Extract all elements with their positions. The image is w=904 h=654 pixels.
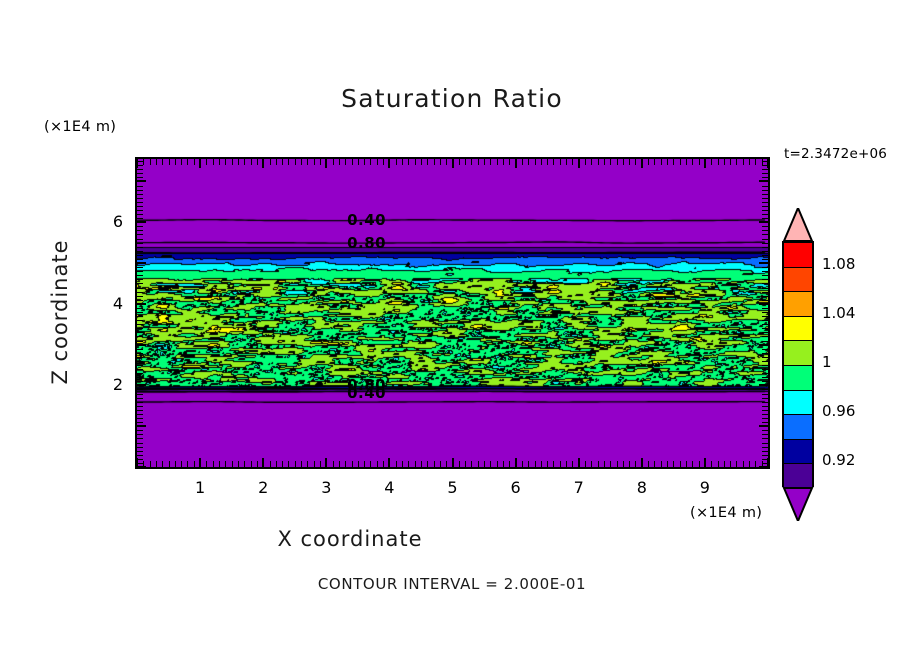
- y-axis-tick: [137, 255, 143, 256]
- contour-label: 0.40: [347, 211, 386, 229]
- x-axis-tick-top: [333, 159, 334, 165]
- x-axis-tick-top: [325, 159, 327, 168]
- y-axis-tick: [137, 234, 143, 235]
- x-axis-tick-top: [156, 159, 157, 165]
- y-axis-tick-right: [762, 283, 768, 284]
- x-axis-tick: [566, 461, 567, 467]
- x-axis-tick-top: [199, 159, 201, 168]
- x-axis-tick: [446, 461, 447, 467]
- x-axis-tick: [199, 458, 201, 467]
- y-axis-tick: [137, 344, 146, 346]
- x-axis-tick: [515, 458, 517, 467]
- y-axis-tick: [137, 459, 143, 460]
- contour-label: 0.40: [347, 384, 386, 402]
- x-axis-tick-top: [339, 159, 340, 165]
- x-axis-tick-top: [288, 159, 289, 165]
- y-axis-tick: [137, 186, 143, 187]
- x-tick-label: 5: [433, 478, 473, 497]
- x-axis-tick: [572, 461, 573, 467]
- x-axis-tick-top: [560, 159, 561, 165]
- x-axis-tick: [686, 461, 687, 467]
- x-axis-tick-top: [282, 159, 283, 165]
- x-axis-tick: [225, 461, 226, 467]
- y-axis-tick-right: [762, 251, 768, 252]
- x-axis-tick: [528, 461, 529, 467]
- x-axis-tick: [370, 461, 371, 467]
- x-axis-tick-top: [276, 159, 277, 165]
- x-axis-title: X coordinate: [0, 527, 700, 551]
- x-axis-tick: [730, 461, 731, 467]
- y-axis-tick-right: [762, 349, 768, 350]
- colorbar-band[interactable]: [784, 317, 812, 342]
- x-axis-tick-top: [383, 159, 384, 165]
- y-axis-tick: [137, 336, 143, 337]
- y-axis-tick: [137, 283, 143, 284]
- x-axis-tick: [282, 461, 283, 467]
- x-axis-tick-top: [238, 159, 239, 165]
- x-axis-tick: [673, 461, 674, 467]
- colorbar-band[interactable]: [784, 366, 812, 391]
- y-axis-tick: [137, 349, 143, 350]
- x-axis-tick: [680, 461, 681, 467]
- y-axis-tick: [137, 353, 143, 354]
- saturation-field-canvas: [137, 159, 768, 467]
- x-tick-label: 2: [243, 478, 283, 497]
- x-axis-tick-top: [535, 159, 536, 165]
- x-axis-tick-top: [711, 159, 712, 165]
- y-axis-tick-right: [762, 394, 768, 395]
- y-axis-tick: [137, 292, 143, 293]
- x-axis-tick-top: [591, 159, 592, 165]
- y-axis-tick-right: [759, 180, 768, 182]
- x-axis-tick: [560, 461, 561, 467]
- x-tick-label: 9: [685, 478, 725, 497]
- colorbar-band[interactable]: [784, 243, 812, 268]
- x-axis-tick-top: [396, 159, 397, 165]
- y-axis-tick-right: [759, 221, 768, 223]
- y-axis-tick: [137, 443, 143, 444]
- y-axis-tick: [137, 341, 143, 342]
- y-axis-tick: [137, 288, 143, 289]
- x-axis-tick-top: [143, 159, 144, 165]
- y-axis-tick-right: [762, 288, 768, 289]
- x-axis-tick-top: [465, 159, 466, 165]
- x-axis-tick: [408, 461, 409, 467]
- x-axis-tick: [219, 461, 220, 467]
- y-axis-tick: [137, 447, 143, 448]
- y-axis-tick: [137, 361, 143, 362]
- x-axis-tick-top: [724, 159, 725, 165]
- x-axis-tick: [497, 461, 498, 467]
- y-axis-tick: [137, 328, 143, 329]
- page-title: Saturation Ratio: [0, 84, 904, 113]
- y-axis-tick-right: [762, 312, 768, 313]
- x-axis-tick-top: [370, 159, 371, 165]
- x-axis-tick-top: [415, 159, 416, 165]
- y-axis-tick: [137, 418, 143, 419]
- colorbar-bands[interactable]: [782, 241, 814, 487]
- x-axis-tick: [270, 461, 271, 467]
- y-axis-tick: [137, 161, 143, 162]
- x-axis-tick: [553, 461, 554, 467]
- x-axis-tick: [383, 461, 384, 467]
- x-axis-tick-top: [528, 159, 529, 165]
- y-axis-tick-right: [762, 226, 768, 227]
- x-axis-tick: [617, 461, 618, 467]
- y-axis-tick-right: [762, 402, 768, 403]
- y-axis-tick: [137, 271, 143, 272]
- y-axis-tick-right: [762, 459, 768, 460]
- x-axis-tick-top: [743, 159, 744, 165]
- y-axis-tick-right: [759, 262, 768, 264]
- x-axis-tick-top: [755, 159, 756, 165]
- x-axis-tick-top: [345, 159, 346, 165]
- y-axis-tick: [137, 365, 143, 366]
- y-axis-tick-right: [762, 328, 768, 329]
- x-axis-tick-top: [641, 159, 643, 168]
- x-axis-tick: [251, 461, 252, 467]
- x-axis-tick: [692, 461, 693, 467]
- x-axis-tick: [415, 461, 416, 467]
- y-axis-tick: [137, 218, 143, 219]
- x-axis-tick: [402, 461, 403, 467]
- y-axis-tick-right: [762, 369, 768, 370]
- y-axis-tick-right: [762, 234, 768, 235]
- x-axis-tick-top: [667, 159, 668, 165]
- contour-plot-area[interactable]: 0.400.800.800.40: [135, 157, 770, 469]
- colorbar-band[interactable]: [784, 268, 812, 293]
- x-axis-tick-top: [408, 159, 409, 165]
- y-axis-tick-right: [762, 430, 768, 431]
- y-axis-tick-right: [762, 422, 768, 423]
- x-axis-tick-top: [440, 159, 441, 165]
- contour-label: 0.80: [347, 234, 386, 252]
- y-axis-tick: [137, 324, 143, 325]
- y-axis-tick-right: [762, 186, 768, 187]
- x-axis-tick: [490, 461, 491, 467]
- x-axis-tick-top: [585, 159, 586, 165]
- y-axis-tick-right: [762, 447, 768, 448]
- x-axis-tick-top: [610, 159, 611, 165]
- y-axis-tick: [137, 230, 143, 231]
- y-axis-tick: [137, 394, 143, 395]
- x-axis-tick: [648, 461, 649, 467]
- y-axis-tick-right: [762, 300, 768, 301]
- x-axis-tick-top: [150, 159, 151, 165]
- x-axis-tick: [440, 461, 441, 467]
- x-axis-tick-top: [522, 159, 523, 165]
- x-axis-tick: [377, 461, 378, 467]
- y-axis-tick-right: [762, 377, 768, 378]
- x-axis-tick-top: [648, 159, 649, 165]
- x-axis-tick: [604, 461, 605, 467]
- x-axis-tick-top: [484, 159, 485, 165]
- x-axis-tick: [396, 461, 397, 467]
- x-axis-tick-top: [509, 159, 510, 165]
- y-axis-tick: [137, 430, 143, 431]
- y-axis-tick-right: [762, 398, 768, 399]
- colorbar-band[interactable]: [784, 341, 812, 366]
- y-tick-label: 4: [95, 294, 123, 313]
- colorbar-band[interactable]: [784, 415, 812, 440]
- x-axis-tick: [535, 461, 536, 467]
- x-axis-tick: [162, 461, 163, 467]
- x-axis-tick-top: [358, 159, 359, 165]
- x-axis-tick-top: [169, 159, 170, 165]
- x-axis-tick: [503, 461, 504, 467]
- x-axis-tick: [325, 458, 327, 467]
- x-axis-tick: [711, 461, 712, 467]
- x-axis-tick-top: [162, 159, 163, 165]
- x-axis-tick-top: [257, 159, 258, 165]
- x-axis-tick: [295, 461, 296, 467]
- x-axis-tick-top: [604, 159, 605, 165]
- y-axis-tick: [137, 406, 143, 407]
- y-axis-tick-right: [762, 365, 768, 366]
- x-axis-tick: [169, 461, 170, 467]
- x-tick-label: 8: [622, 478, 662, 497]
- y-axis-tick: [137, 279, 143, 280]
- x-axis-tick-top: [730, 159, 731, 165]
- x-axis-tick-top: [547, 159, 548, 165]
- x-axis-tick: [661, 461, 662, 467]
- y-axis-tick-right: [762, 443, 768, 444]
- y-axis-tick-right: [759, 303, 768, 305]
- x-axis-tick-top: [503, 159, 504, 165]
- x-axis-tick-top: [314, 159, 315, 165]
- y-axis-tick: [137, 434, 143, 435]
- y-axis-tick-right: [762, 353, 768, 354]
- x-axis-tick-top: [181, 159, 182, 165]
- colorbar-tick-label: 0.92: [822, 451, 855, 469]
- y-axis-tick: [137, 438, 143, 439]
- y-axis-tick: [137, 332, 143, 333]
- y-axis-tick: [137, 173, 143, 174]
- y-axis-tick: [137, 267, 143, 268]
- x-axis-tick-top: [377, 159, 378, 165]
- y-axis-tick: [137, 312, 143, 313]
- y-axis-tick-right: [762, 455, 768, 456]
- x-axis-tick-top: [251, 159, 252, 165]
- y-tick-label: 6: [95, 212, 123, 231]
- x-axis-tick-top: [459, 159, 460, 165]
- x-axis-tick-top: [213, 159, 214, 165]
- x-axis-tick-top: [434, 159, 435, 165]
- time-annotation: t=2.3472e+06: [784, 146, 887, 162]
- y-axis-tick: [137, 402, 143, 403]
- x-axis-tick: [591, 461, 592, 467]
- y-axis-tick: [137, 198, 143, 199]
- y-axis-tick: [137, 251, 143, 252]
- y-axis-tick-right: [762, 341, 768, 342]
- x-tick-label: 6: [496, 478, 536, 497]
- x-axis-tick-top: [187, 159, 188, 165]
- x-axis-tick: [478, 461, 479, 467]
- x-axis-tick: [206, 461, 207, 467]
- colorbar-tick-label: 1.04: [822, 304, 855, 322]
- x-tick-label: 4: [369, 478, 409, 497]
- y-axis-tick: [137, 455, 143, 456]
- colorbar-tick-label: 1.08: [822, 255, 855, 273]
- y-axis-tick: [137, 169, 143, 170]
- x-axis-tick: [175, 461, 176, 467]
- y-axis-tick-right: [762, 267, 768, 268]
- x-axis-tick-top: [699, 159, 700, 165]
- y-axis-tick: [137, 425, 146, 427]
- y-axis-tick: [137, 180, 146, 182]
- x-axis-tick: [345, 461, 346, 467]
- x-axis-tick: [522, 461, 523, 467]
- colorbar-band[interactable]: [784, 292, 812, 317]
- y-axis-tick: [137, 239, 143, 240]
- x-axis-tick-top: [673, 159, 674, 165]
- x-axis-tick: [749, 461, 750, 467]
- y-axis-tick-right: [762, 381, 768, 382]
- y-axis-tick: [137, 206, 143, 207]
- y-axis-tick-right: [762, 414, 768, 415]
- x-axis-tick: [213, 461, 214, 467]
- y-axis-tick: [137, 316, 143, 317]
- x-axis-tick-top: [232, 159, 233, 165]
- x-axis-tick-top: [320, 159, 321, 165]
- x-axis-tick: [578, 458, 580, 467]
- x-axis-tick-top: [427, 159, 428, 165]
- x-axis-tick-top: [578, 159, 580, 168]
- x-axis-tick: [471, 461, 472, 467]
- y-axis-tick: [137, 398, 143, 399]
- y-axis-tick: [137, 214, 143, 215]
- y-axis-tick: [137, 226, 143, 227]
- y-axis-tick-right: [762, 332, 768, 333]
- x-axis-tick-top: [364, 159, 365, 165]
- x-axis-tick-top: [617, 159, 618, 165]
- y-axis-tick-right: [762, 336, 768, 337]
- y-axis-tick-right: [762, 161, 768, 162]
- y-axis-tick-right: [762, 292, 768, 293]
- y-axis-tick: [137, 373, 143, 374]
- x-axis-tick: [699, 461, 700, 467]
- y-axis-tick: [137, 296, 143, 297]
- y-axis-tick-right: [762, 320, 768, 321]
- y-axis-tick-right: [762, 279, 768, 280]
- x-axis-tick: [736, 461, 737, 467]
- x-axis-tick-top: [402, 159, 403, 165]
- y-axis-tick: [137, 422, 143, 423]
- x-axis-tick: [307, 461, 308, 467]
- x-axis-tick-top: [301, 159, 302, 165]
- y-axis-tick-right: [762, 434, 768, 435]
- x-axis-tick-top: [661, 159, 662, 165]
- x-axis-tick-top: [680, 159, 681, 165]
- x-axis-tick-top: [270, 159, 271, 165]
- y-tick-label: 2: [95, 375, 123, 394]
- x-axis-tick-top: [635, 159, 636, 165]
- y-axis-tick-right: [762, 173, 768, 174]
- x-axis-tick-top: [421, 159, 422, 165]
- x-axis-tick: [623, 461, 624, 467]
- colorbar[interactable]: 1.081.0410.960.92: [782, 208, 814, 520]
- y-axis-tick: [137, 243, 143, 244]
- colorbar-band[interactable]: [784, 391, 812, 416]
- x-axis-tick: [598, 461, 599, 467]
- x-axis-tick-top: [478, 159, 479, 165]
- x-axis-tick: [484, 461, 485, 467]
- y-axis-tick-right: [762, 389, 768, 390]
- x-axis-tick-top: [598, 159, 599, 165]
- x-axis-tick-top: [736, 159, 737, 165]
- y-axis-tick-right: [762, 190, 768, 191]
- x-axis-tick: [262, 458, 264, 467]
- y-axis-tick-right: [762, 296, 768, 297]
- x-axis-tick-top: [225, 159, 226, 165]
- x-axis-tick: [667, 461, 668, 467]
- x-axis-tick: [257, 461, 258, 467]
- x-axis-tick-top: [219, 159, 220, 165]
- y-axis-tick-right: [762, 259, 768, 260]
- y-axis-tick: [137, 300, 143, 301]
- x-axis-tick: [238, 461, 239, 467]
- x-axis-tick: [452, 458, 454, 467]
- y-axis-tick: [137, 410, 143, 411]
- y-axis-tick-right: [762, 202, 768, 203]
- colorbar-tick-label: 1: [822, 353, 832, 371]
- x-axis-tick-top: [572, 159, 573, 165]
- x-axis-tick: [547, 461, 548, 467]
- y-axis-tick-right: [762, 194, 768, 195]
- x-axis-tick: [629, 461, 630, 467]
- x-axis-unit-label: (×1E4 m): [690, 505, 762, 521]
- y-axis-tick-right: [762, 316, 768, 317]
- x-axis-tick: [610, 461, 611, 467]
- x-axis-tick-top: [452, 159, 454, 168]
- y-axis-tick-right: [762, 210, 768, 211]
- colorbar-band[interactable]: [784, 440, 812, 465]
- y-axis-tick-right: [762, 275, 768, 276]
- y-axis-tick-right: [759, 466, 768, 468]
- x-axis-tick-top: [244, 159, 245, 165]
- x-axis-tick: [509, 461, 510, 467]
- y-axis-tick: [137, 221, 146, 223]
- x-axis-tick-top: [352, 159, 353, 165]
- y-axis-tick: [137, 247, 143, 248]
- x-axis-tick-top: [295, 159, 296, 165]
- y-axis-tick: [137, 369, 143, 370]
- y-axis-tick-right: [762, 410, 768, 411]
- x-axis-tick-top: [175, 159, 176, 165]
- x-axis-tick: [421, 461, 422, 467]
- x-axis-tick-top: [262, 159, 264, 168]
- x-axis-tick: [585, 461, 586, 467]
- x-axis-tick: [743, 461, 744, 467]
- x-axis-tick-top: [686, 159, 687, 165]
- colorbar-band[interactable]: [784, 464, 812, 489]
- x-axis-tick: [465, 461, 466, 467]
- x-axis-tick-top: [446, 159, 447, 165]
- x-axis-tick-top: [307, 159, 308, 165]
- y-axis-tick-right: [762, 255, 768, 256]
- y-axis-tick-right: [759, 344, 768, 346]
- y-axis-tick: [137, 210, 143, 211]
- x-axis-tick-top: [490, 159, 491, 165]
- y-axis-tick: [137, 190, 143, 191]
- y-axis-tick-right: [762, 243, 768, 244]
- colorbar-bottom-cap: [782, 487, 814, 521]
- y-axis-tick-right: [759, 384, 768, 386]
- y-axis-tick-right: [762, 239, 768, 240]
- y-axis-tick: [137, 259, 143, 260]
- y-axis-tick: [137, 303, 146, 305]
- x-tick-label: 3: [306, 478, 346, 497]
